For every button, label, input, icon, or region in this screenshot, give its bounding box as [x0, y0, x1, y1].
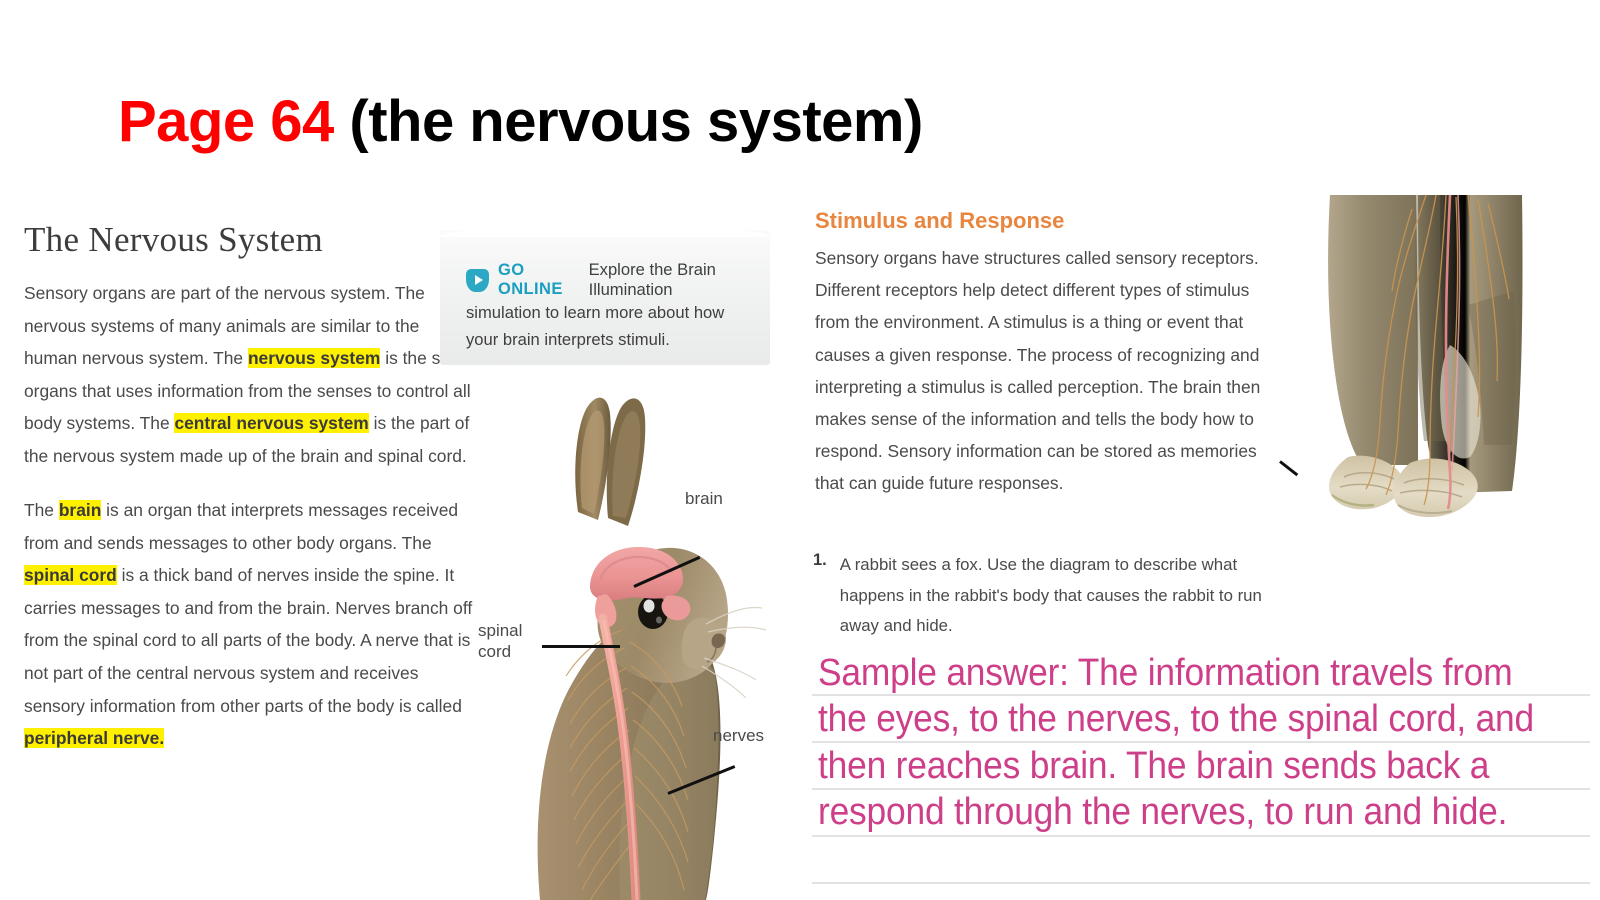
p2-seg1: The	[24, 500, 59, 520]
highlight-brain: brain	[59, 500, 102, 520]
question-number: 1.	[813, 550, 827, 642]
question-text: A rabbit sees a fox. Use the diagram to …	[840, 550, 1283, 642]
go-online-before: Explore the	[589, 260, 678, 279]
leader-line-legs	[1279, 460, 1298, 476]
section-heading-stimulus-response: Stimulus and Response	[815, 208, 1270, 234]
answer-area[interactable]: Sample answer: The information travels f…	[812, 648, 1592, 893]
left-text-column: The Nervous System Sensory organs are pa…	[24, 222, 476, 777]
go-online-text-lead: Explore the Brain Illumination	[589, 260, 756, 300]
paragraph-stimulus-response: Sensory organs have structures called se…	[815, 242, 1270, 500]
page-title: Page 64 (the nervous system)	[118, 88, 923, 155]
p2-seg3: is a thick band of nerves inside the spi…	[24, 565, 472, 715]
go-online-description: simulation to learn more about how your …	[466, 300, 756, 354]
rabbit-nervous-system-diagram: brain spinal cord nerves	[470, 380, 800, 900]
highlight-central-nervous-system: central nervous system	[174, 413, 368, 433]
diagram-label-spinal-cord: spinal cord	[478, 620, 522, 663]
textbook-page-image: The Nervous System Sensory organs are pa…	[0, 190, 1600, 900]
rabbit-hind-legs-figure	[1300, 195, 1590, 525]
go-online-label: GO ONLINE	[498, 261, 573, 299]
diagram-label-brain: brain	[685, 488, 723, 509]
highlight-spinal-cord: spinal cord	[24, 565, 117, 585]
paragraph-brain-spinal-cord: The brain is an organ that interprets me…	[24, 494, 476, 754]
highlight-peripheral-nerve: peripheral nerve.	[24, 728, 164, 748]
diagram-label-nerves: nerves	[713, 725, 764, 746]
go-online-content: GO ONLINE Explore the Brain Illumination…	[466, 260, 756, 354]
leader-line-spinal-cord	[542, 645, 620, 648]
go-online-header-row: GO ONLINE Explore the Brain Illumination	[466, 260, 756, 300]
section-heading-nervous-system: The Nervous System	[24, 222, 476, 257]
ruled-line	[812, 882, 1590, 884]
page-title-subtitle: (the nervous system)	[334, 89, 923, 154]
paragraph-nervous-system: Sensory organs are part of the nervous s…	[24, 277, 476, 472]
go-online-callout[interactable]: GO ONLINE Explore the Brain Illumination…	[440, 230, 770, 365]
play-shield-icon	[466, 269, 489, 292]
highlight-nervous-system: nervous system	[248, 348, 380, 368]
right-text-column: Stimulus and Response Sensory organs hav…	[815, 208, 1270, 500]
rabbit-legs-illustration	[1300, 195, 1590, 525]
question-item: 1. A rabbit sees a fox. Use the diagram …	[813, 550, 1283, 642]
handwritten-answer-text: Sample answer: The information travels f…	[818, 650, 1539, 835]
page-title-number: Page 64	[118, 89, 334, 154]
